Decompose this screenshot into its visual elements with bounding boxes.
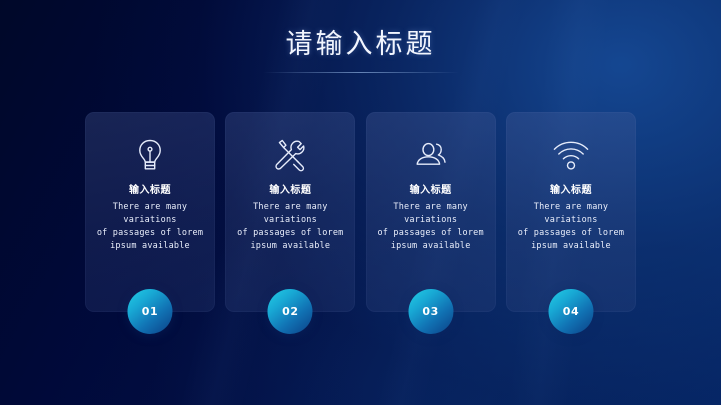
card-description: There are many variations of passages of… — [508, 201, 634, 253]
slide-canvas: 请输入标题 输入标题 There are many variations of … — [0, 0, 721, 405]
card-badge-number: 02 — [282, 305, 299, 318]
card-description: There are many variations of passages of… — [368, 201, 494, 253]
card-badge-1[interactable]: 01 — [128, 289, 173, 334]
card-badge-3[interactable]: 03 — [408, 289, 453, 334]
feature-card-2[interactable]: 输入标题 There are many variations of passag… — [225, 112, 355, 312]
card-description: There are many variations of passages of… — [227, 201, 353, 253]
card-badge-2[interactable]: 02 — [268, 289, 313, 334]
card-description: There are many variations of passages of… — [87, 201, 213, 253]
card-heading: 输入标题 — [87, 184, 213, 198]
card-content-1: 输入标题 There are many variations of passag… — [87, 184, 213, 253]
card-badge-number: 01 — [142, 305, 159, 318]
feature-card-1[interactable]: 输入标题 There are many variations of passag… — [85, 112, 215, 312]
title-divider — [263, 72, 459, 73]
card-badge-4[interactable]: 04 — [548, 289, 593, 334]
card-row: 输入标题 There are many variations of passag… — [85, 112, 636, 312]
lightbulb-icon — [85, 132, 215, 180]
tools-icon — [225, 132, 355, 180]
card-content-2: 输入标题 There are many variations of passag… — [227, 184, 353, 253]
page-title: 请输入标题 — [0, 28, 721, 62]
card-heading: 输入标题 — [508, 184, 634, 198]
users-icon — [366, 132, 496, 180]
feature-card-4[interactable]: 输入标题 There are many variations of passag… — [506, 112, 636, 312]
card-heading: 输入标题 — [227, 184, 353, 198]
card-badge-number: 03 — [422, 305, 439, 318]
card-badge-number: 04 — [563, 305, 580, 318]
title-block: 请输入标题 — [0, 28, 721, 73]
card-heading: 输入标题 — [368, 184, 494, 198]
feature-card-3[interactable]: 输入标题 There are many variations of passag… — [366, 112, 496, 312]
wifi-icon — [506, 132, 636, 180]
card-content-3: 输入标题 There are many variations of passag… — [368, 184, 494, 253]
card-content-4: 输入标题 There are many variations of passag… — [508, 184, 634, 253]
